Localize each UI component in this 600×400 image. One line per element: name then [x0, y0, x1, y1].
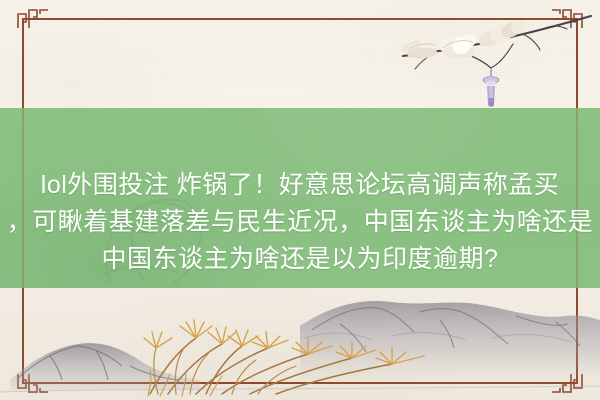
- headline-line-2: ，可瞅着基建落差与民生近况，中国东谈主为啥还是: [7, 204, 594, 241]
- fret-corner-bottom-right-icon: [550, 372, 584, 394]
- fret-corner-top-left-icon: [16, 8, 50, 30]
- fret-corner-bottom-left-icon: [16, 372, 50, 394]
- green-headline-banner: lol外围投注 炸锅了！好意思论坛高调声称孟买 ，可瞅着基建落差与民生近况，中国…: [0, 108, 600, 288]
- headline-line-3: 中国东谈主为啥还是以为印度逾期?: [102, 241, 499, 278]
- headline-line-1: lol外围投注 炸锅了！好意思论坛高调声称孟买: [41, 167, 559, 204]
- fret-corner-top-right-icon: [550, 8, 584, 30]
- poster-canvas: lol外围投注 炸锅了！好意思论坛高调声称孟买 ，可瞅着基建落差与民生近况，中国…: [0, 0, 600, 400]
- headline-block: lol外围投注 炸锅了！好意思论坛高调声称孟买 ，可瞅着基建落差与民生近况，中国…: [0, 108, 600, 288]
